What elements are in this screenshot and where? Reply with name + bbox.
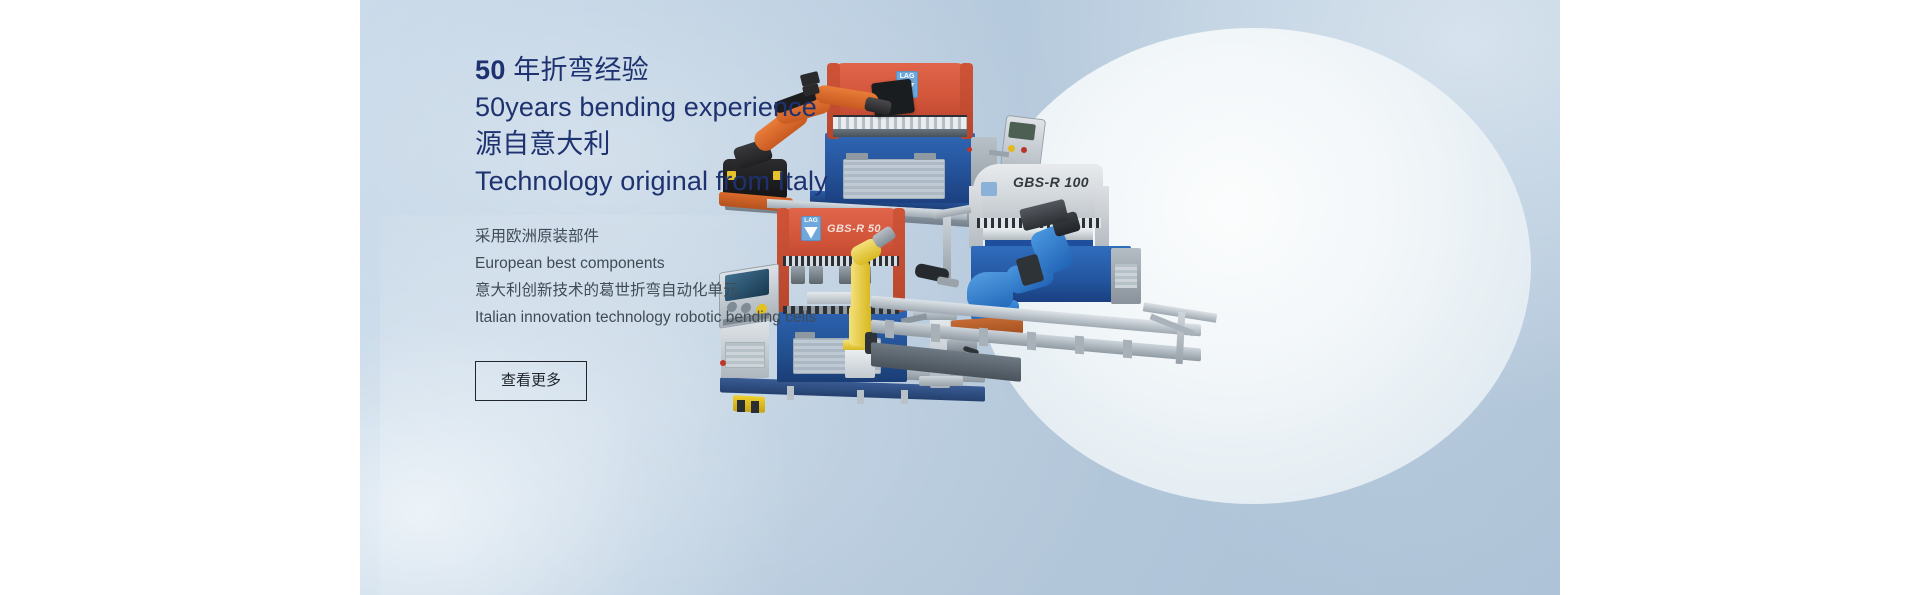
- subcopy-line-4: Italian innovation technology robotic be…: [475, 304, 1095, 331]
- subcopy-group: 采用欧洲原装部件 European best components 意大利创新技…: [475, 223, 1095, 331]
- headline-years-number: 50: [475, 55, 506, 85]
- machine2-chock-slot-b: [751, 401, 759, 413]
- headline-group: 50 年折弯经验 50years bending experience 源自意大…: [475, 52, 1095, 200]
- hero-banner: LAG: [360, 0, 1560, 595]
- headline-line-1-text: 年折弯经验: [506, 55, 649, 85]
- headline-line-2: 50years bending experience: [475, 89, 1095, 126]
- headline-line-3: 源自意大利: [475, 126, 1095, 163]
- machine2-chock-slot-a: [737, 400, 745, 412]
- banner-copy-block: 50 年折弯经验 50years bending experience 源自意大…: [475, 52, 1095, 401]
- subcopy-line-1: 采用欧洲原装部件: [475, 223, 1095, 250]
- subcopy-line-3: 意大利创新技术的葛世折弯自动化单元: [475, 277, 1095, 304]
- view-more-button[interactable]: 查看更多: [475, 361, 587, 401]
- headline-line-1: 50 年折弯经验: [475, 52, 1095, 89]
- headline-line-4: Technology original from Italy: [475, 163, 1095, 200]
- banner-stage: LAG: [0, 0, 1920, 595]
- subcopy-line-2: European best components: [475, 250, 1095, 277]
